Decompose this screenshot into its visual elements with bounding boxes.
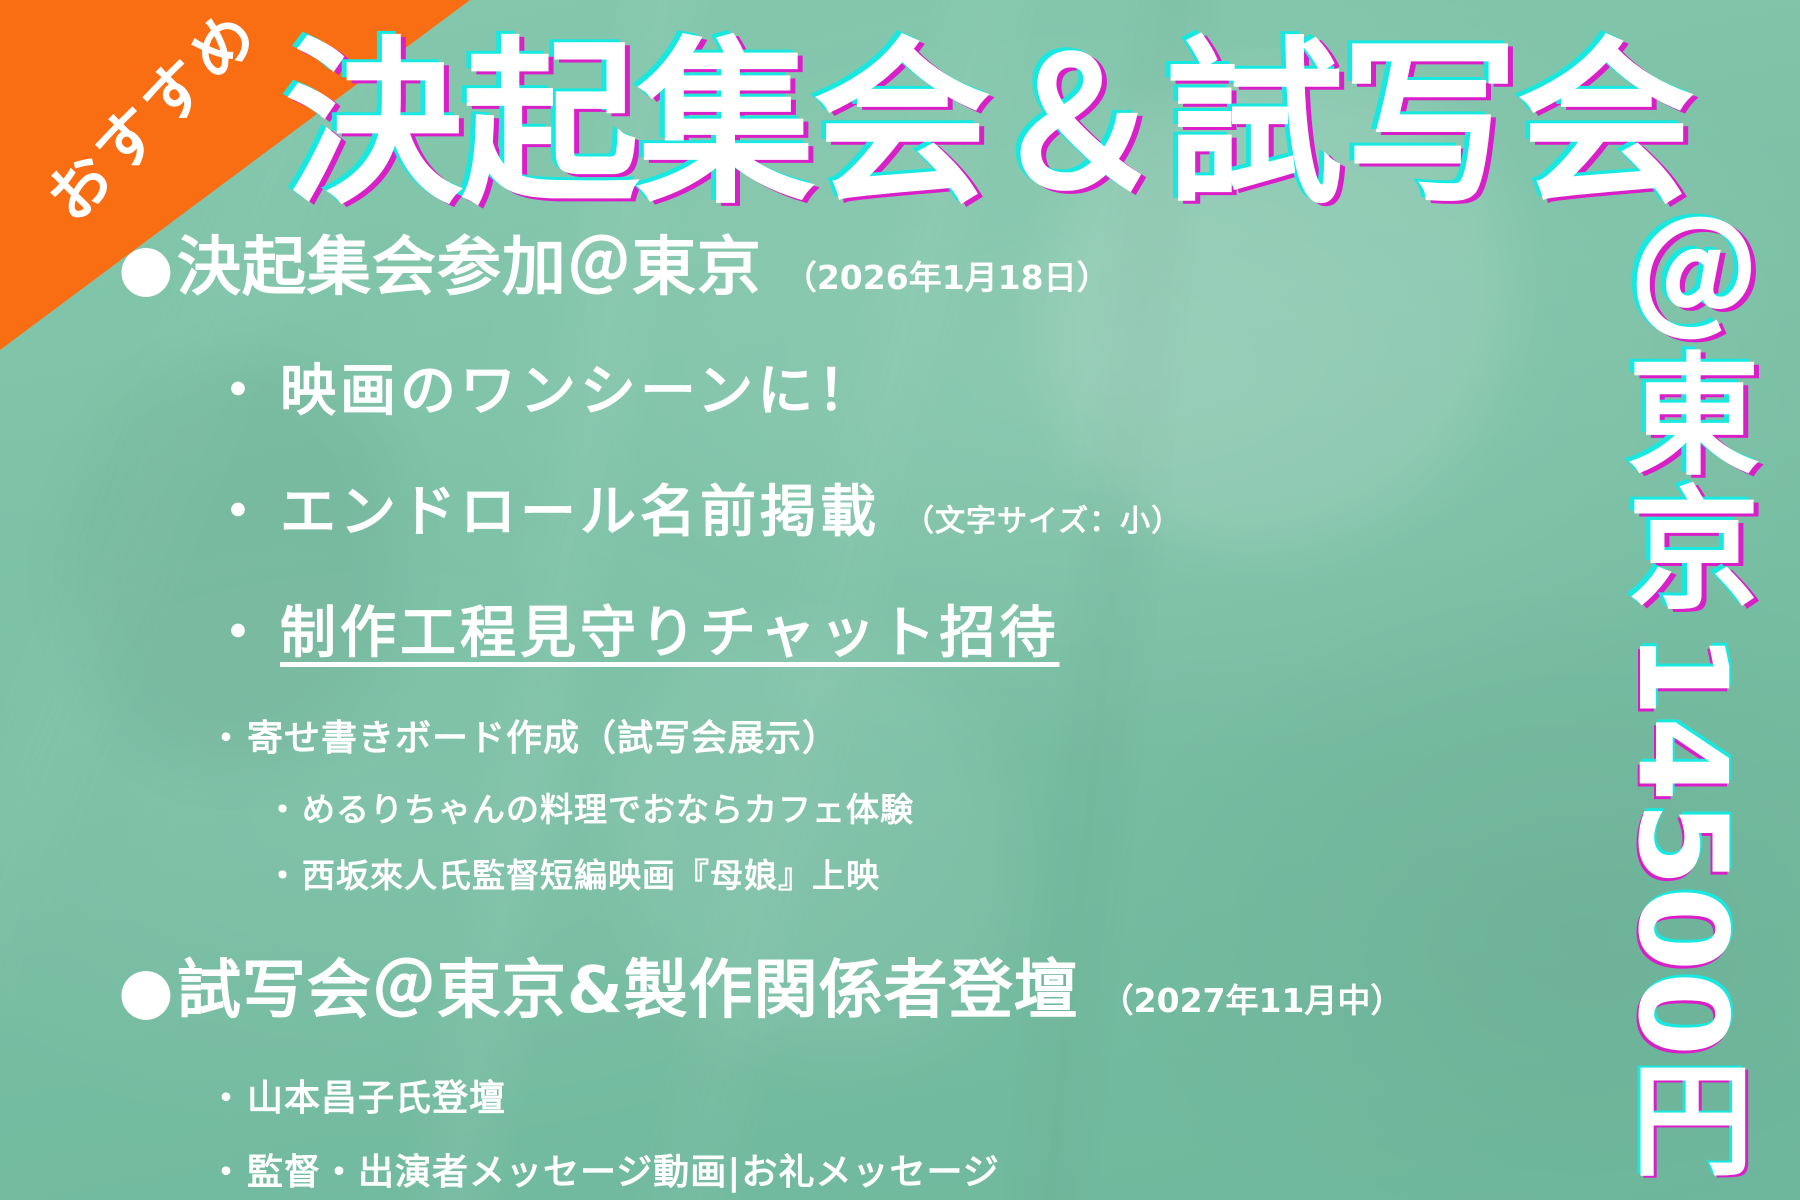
reward-card: おすすめ 決起集会＆試写会 ＠東京 14500円 ●決起集会参加＠東京（2026… bbox=[0, 0, 1800, 1200]
bullet-dot-icon: ・ bbox=[208, 709, 245, 761]
spacer bbox=[118, 334, 1458, 346]
bullet-dot-icon: ・ bbox=[210, 467, 266, 548]
bullet-dot-icon: ・ bbox=[266, 783, 300, 831]
bullet-dot-icon: ・ bbox=[208, 1143, 245, 1195]
vertical-price-column: ＠東京 14500円 bbox=[1582, 212, 1782, 1012]
bullet-dot-icon: ・ bbox=[210, 588, 266, 669]
list-item-label: 決起集会参加＠東京 bbox=[177, 216, 762, 308]
list-item-note: （文字サイズ：小） bbox=[904, 496, 1182, 540]
list-item-note: （2027年11月中） bbox=[1101, 974, 1404, 1022]
bullet-dot-icon: ・ bbox=[210, 346, 266, 427]
list-item-label: 西坂來人氏監督短編映画『母娘』上映 bbox=[302, 849, 880, 897]
bullet-dot-icon: ・ bbox=[266, 849, 300, 897]
list-item-sub-4: ・山本昌子氏登壇 bbox=[208, 1069, 1458, 1121]
list-item-label: 監督・出演者メッセージ動画|お礼メッセージ bbox=[247, 1143, 1000, 1195]
list-item-label: 山本昌子氏登壇 bbox=[247, 1069, 506, 1121]
list-item-label: 試写会＠東京&製作関係者登壇 bbox=[177, 939, 1079, 1031]
spacer bbox=[118, 1057, 1458, 1069]
list-item-big-1: ・映画のワンシーンに！ bbox=[210, 346, 1458, 427]
list-item-heading-2: ●試写会＠東京&製作関係者登壇（2027年11月中） bbox=[118, 939, 1458, 1031]
list-item-heading-1: ●決起集会参加＠東京（2026年1月18日） bbox=[118, 216, 1458, 308]
bullet-dot-icon: ・ bbox=[208, 1069, 245, 1121]
bullet-filled-circle-icon: ● bbox=[118, 231, 175, 305]
price-label: 14500円 bbox=[1621, 632, 1743, 1178]
list-item-label: 映画のワンシーンに！ bbox=[280, 346, 877, 427]
reward-list: ●決起集会参加＠東京（2026年1月18日） ・映画のワンシーンに！ ・エンドロ… bbox=[118, 216, 1458, 1200]
list-item-big-2: ・エンドロール名前掲載（文字サイズ：小） bbox=[210, 467, 1458, 548]
list-item-sub-1: ・寄せ書きボード作成（試写会展示） bbox=[208, 709, 1458, 761]
page-title: 決起集会＆試写会 bbox=[285, 36, 1693, 214]
list-item-label: めるりちゃんの料理でおならカフェ体験 bbox=[302, 783, 914, 831]
list-item-note: （2026年1月18日） bbox=[784, 251, 1110, 299]
list-item-big-3: ・制作工程見守りチャット招待 bbox=[210, 588, 1458, 669]
list-item-label: エンドロール名前掲載 bbox=[280, 467, 880, 548]
title-vertical-suffix: ＠東京 bbox=[1615, 212, 1750, 614]
list-item-label: 寄せ書きボード作成（試写会展示） bbox=[247, 709, 839, 761]
list-item-sub-3: ・西坂來人氏監督短編映画『母娘』上映 bbox=[266, 849, 1458, 897]
spacer bbox=[118, 915, 1458, 939]
bullet-filled-circle-icon: ● bbox=[118, 954, 175, 1028]
list-item-sub-2: ・めるりちゃんの料理でおならカフェ体験 bbox=[266, 783, 1458, 831]
list-item-label: 制作工程見守りチャット招待 bbox=[280, 588, 1059, 669]
list-item-sub-5: ・監督・出演者メッセージ動画|お礼メッセージ bbox=[208, 1143, 1458, 1195]
